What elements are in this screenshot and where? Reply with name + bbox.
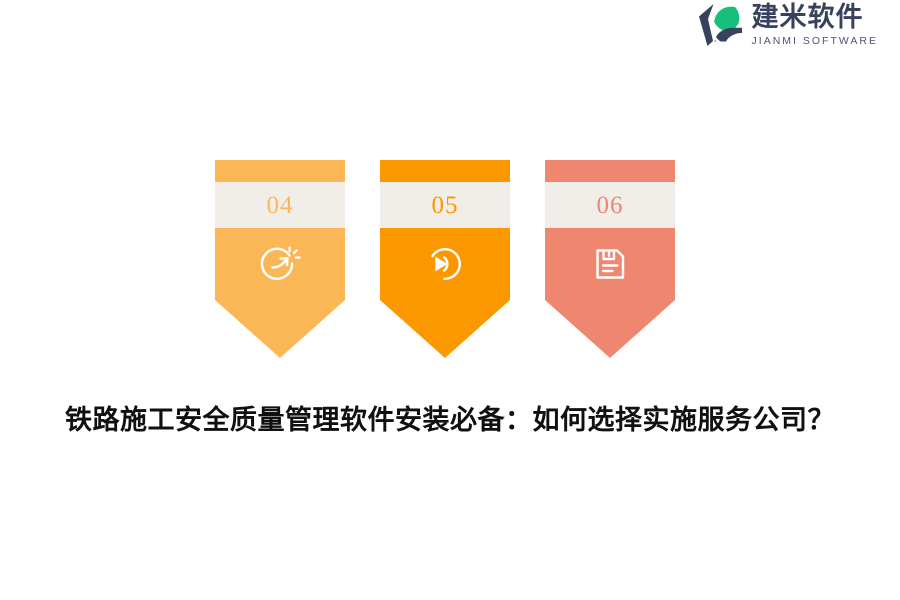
brand-name-cn: 建米软件 xyxy=(752,4,878,32)
card-body-04: 04 xyxy=(215,160,345,300)
card-icon-area-05 xyxy=(380,228,510,300)
card-number-04: 04 xyxy=(267,193,294,218)
jianmi-leaf-logo-icon xyxy=(697,3,743,47)
card-number-band-04: 04 xyxy=(215,182,345,228)
card-top-strip-05 xyxy=(380,160,510,182)
card-number-band-05: 05 xyxy=(380,182,510,228)
card-icon-area-06 xyxy=(545,228,675,300)
page-title: 铁路施工安全质量管理软件安装必备：如何选择实施服务公司？ xyxy=(0,403,900,439)
pennant-card-05[interactable]: 05 xyxy=(380,160,510,358)
card-number-05: 05 xyxy=(432,193,459,218)
card-top-strip-04 xyxy=(215,160,345,182)
card-body-06: 06 xyxy=(545,160,675,300)
brand-text-block: 建米软件 JIANMI SOFTWARE xyxy=(752,4,878,47)
card-top-strip-06 xyxy=(545,160,675,182)
card-tip-05 xyxy=(380,300,510,358)
brand-logo: 建米软件 JIANMI SOFTWARE xyxy=(697,0,878,50)
pennant-card-06[interactable]: 06 xyxy=(545,160,675,358)
fast-forward-circle-icon xyxy=(423,242,467,286)
card-tip-06 xyxy=(545,300,675,358)
card-number-band-06: 06 xyxy=(545,182,675,228)
pennant-card-group: 04 05 xyxy=(215,160,675,358)
card-icon-area-04 xyxy=(215,228,345,300)
pennant-card-04[interactable]: 04 xyxy=(215,160,345,358)
save-document-icon xyxy=(588,242,632,286)
card-body-05: 05 xyxy=(380,160,510,300)
brand-name-en: JIANMI SOFTWARE xyxy=(752,36,878,47)
card-number-06: 06 xyxy=(597,193,624,218)
growth-arrow-circle-icon xyxy=(258,242,302,286)
card-tip-04 xyxy=(215,300,345,358)
